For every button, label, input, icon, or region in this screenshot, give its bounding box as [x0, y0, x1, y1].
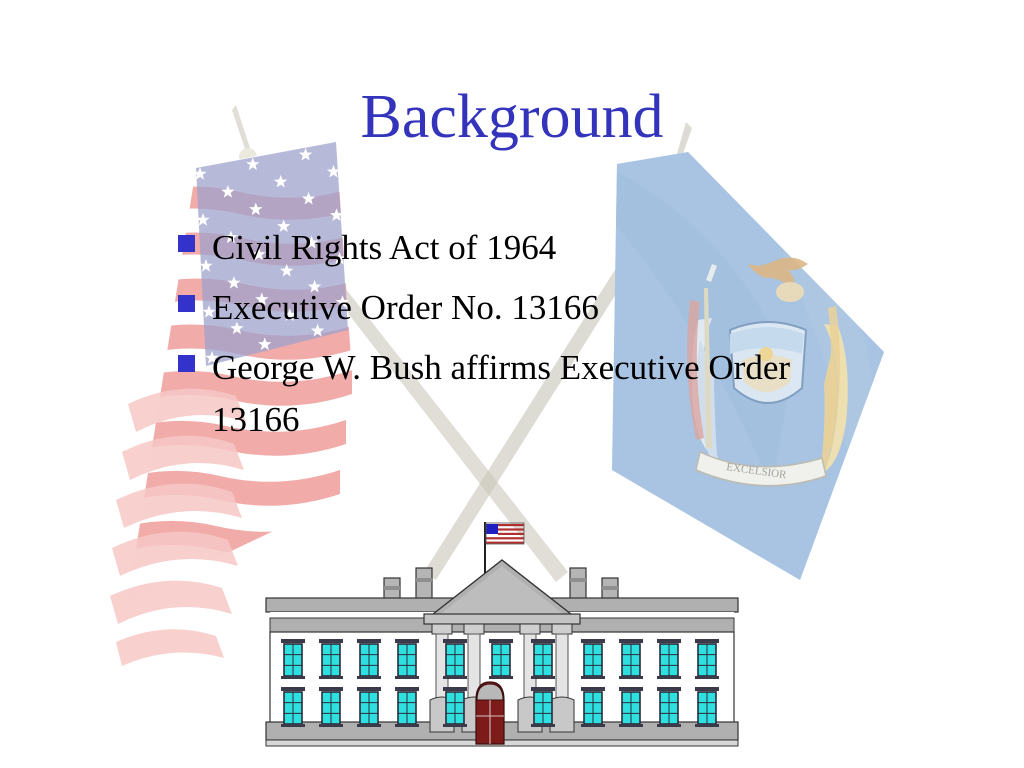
- list-item-label: Civil Rights Act of 1964: [212, 222, 896, 274]
- list-item: George W. Bush affirms Executive Order 1…: [176, 342, 896, 446]
- list-item-label: George W. Bush affirms Executive Order 1…: [212, 342, 862, 446]
- list-item: Civil Rights Act of 1964: [176, 222, 896, 274]
- square-bullet-icon: [178, 235, 195, 252]
- square-bullet-icon: [178, 295, 195, 312]
- slide-content: Background Civil Rights Act of 1964 Exec…: [0, 0, 1024, 768]
- square-bullet-icon: [178, 355, 195, 372]
- slide-canvas: EXCELSIOR: [0, 0, 1024, 768]
- page-title: Background: [0, 82, 1024, 152]
- bullet-list: Civil Rights Act of 1964 Executive Order…: [176, 222, 896, 454]
- list-item-label: Executive Order No. 13166: [212, 282, 896, 334]
- list-item: Executive Order No. 13166: [176, 282, 896, 334]
